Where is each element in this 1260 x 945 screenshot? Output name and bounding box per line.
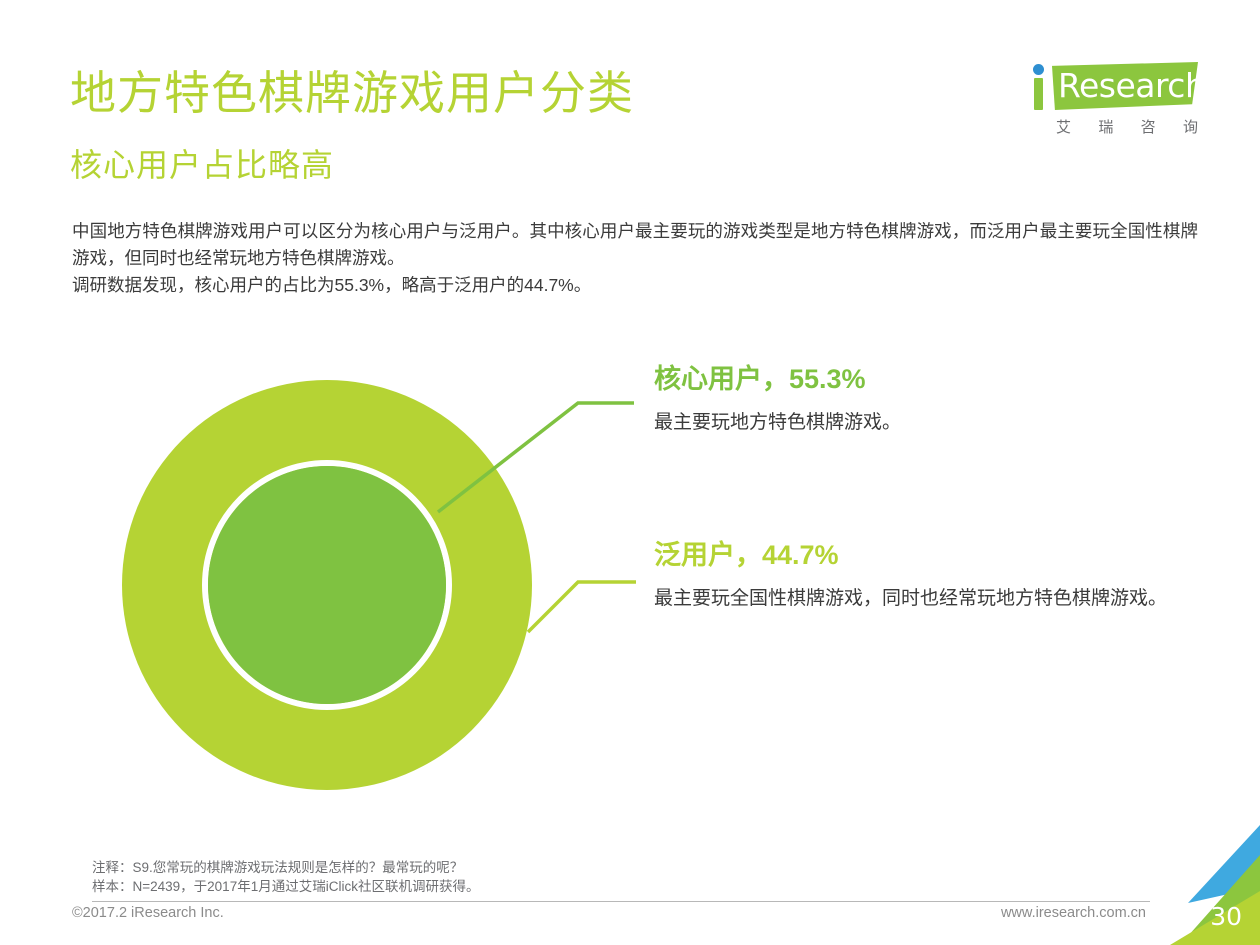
page-number: 30 — [1210, 902, 1242, 931]
logo-chinese-name: 艾 瑞 咨 询 — [1056, 116, 1198, 137]
logo-mark: Research — [1030, 62, 1198, 112]
callout-broad-users: 泛用户，44.7% 最主要玩全国性棋牌游戏，同时也经常玩地方特色棋牌游戏。 — [654, 538, 1214, 613]
chart-inner-circle-core-users — [208, 466, 446, 704]
footer-copyright: ©2017.2 iResearch Inc. — [72, 905, 224, 921]
logo-letter-i-dot-icon — [1033, 64, 1044, 75]
callout-core-users: 核心用户，55.3% 最主要玩地方特色棋牌游戏。 — [654, 362, 1214, 437]
footer-website-url: www.iresearch.com.cn — [1001, 905, 1146, 921]
logo-cn-char-3: 咨 — [1141, 116, 1156, 137]
slide-page: 地方特色棋牌游戏用户分类 核心用户占比略高 Research 艾 瑞 咨 询 中… — [0, 0, 1260, 945]
logo-cn-char-4: 询 — [1183, 116, 1198, 137]
logo-letter-i-stem — [1034, 78, 1043, 110]
page-subtitle: 核心用户占比略高 — [70, 145, 334, 185]
logo-cn-char-2: 瑞 — [1098, 116, 1113, 137]
callout-broad-heading: 泛用户，44.7% — [654, 538, 1214, 572]
iresearch-logo: Research 艾 瑞 咨 询 — [1030, 62, 1200, 142]
callout-core-description: 最主要玩地方特色棋牌游戏。 — [654, 408, 1174, 437]
footnote-line-1: 注释：S9.您常玩的棋牌游戏玩法规则是怎样的？最常玩的呢？ — [92, 858, 1150, 877]
corner-decoration — [1150, 825, 1260, 945]
intro-text: 中国地方特色棋牌游戏用户可以区分为核心用户与泛用户。其中核心用户最主要玩的游戏类… — [72, 218, 1198, 299]
callout-broad-description: 最主要玩全国性棋牌游戏，同时也经常玩地方特色棋牌游戏。 — [654, 584, 1174, 613]
footnote-line-2: 样本：N=2439，于2017年1月通过艾瑞iClick社区联机调研获得。 — [92, 877, 1150, 896]
intro-paragraph-2: 调研数据发现，核心用户的占比为55.3%，略高于泛用户的44.7%。 — [72, 272, 1198, 299]
page-title: 地方特色棋牌游戏用户分类 — [70, 66, 634, 120]
logo-cn-char-1: 艾 — [1056, 116, 1071, 137]
footnote: 注释：S9.您常玩的棋牌游戏玩法规则是怎样的？最常玩的呢？ 样本：N=2439，… — [92, 858, 1150, 902]
callout-core-heading: 核心用户，55.3% — [654, 362, 1214, 396]
intro-paragraph-1: 中国地方特色棋牌游戏用户可以区分为核心用户与泛用户。其中核心用户最主要玩的游戏类… — [72, 221, 1198, 268]
user-split-chart — [110, 368, 550, 808]
logo-wordmark: Research — [1058, 66, 1194, 106]
